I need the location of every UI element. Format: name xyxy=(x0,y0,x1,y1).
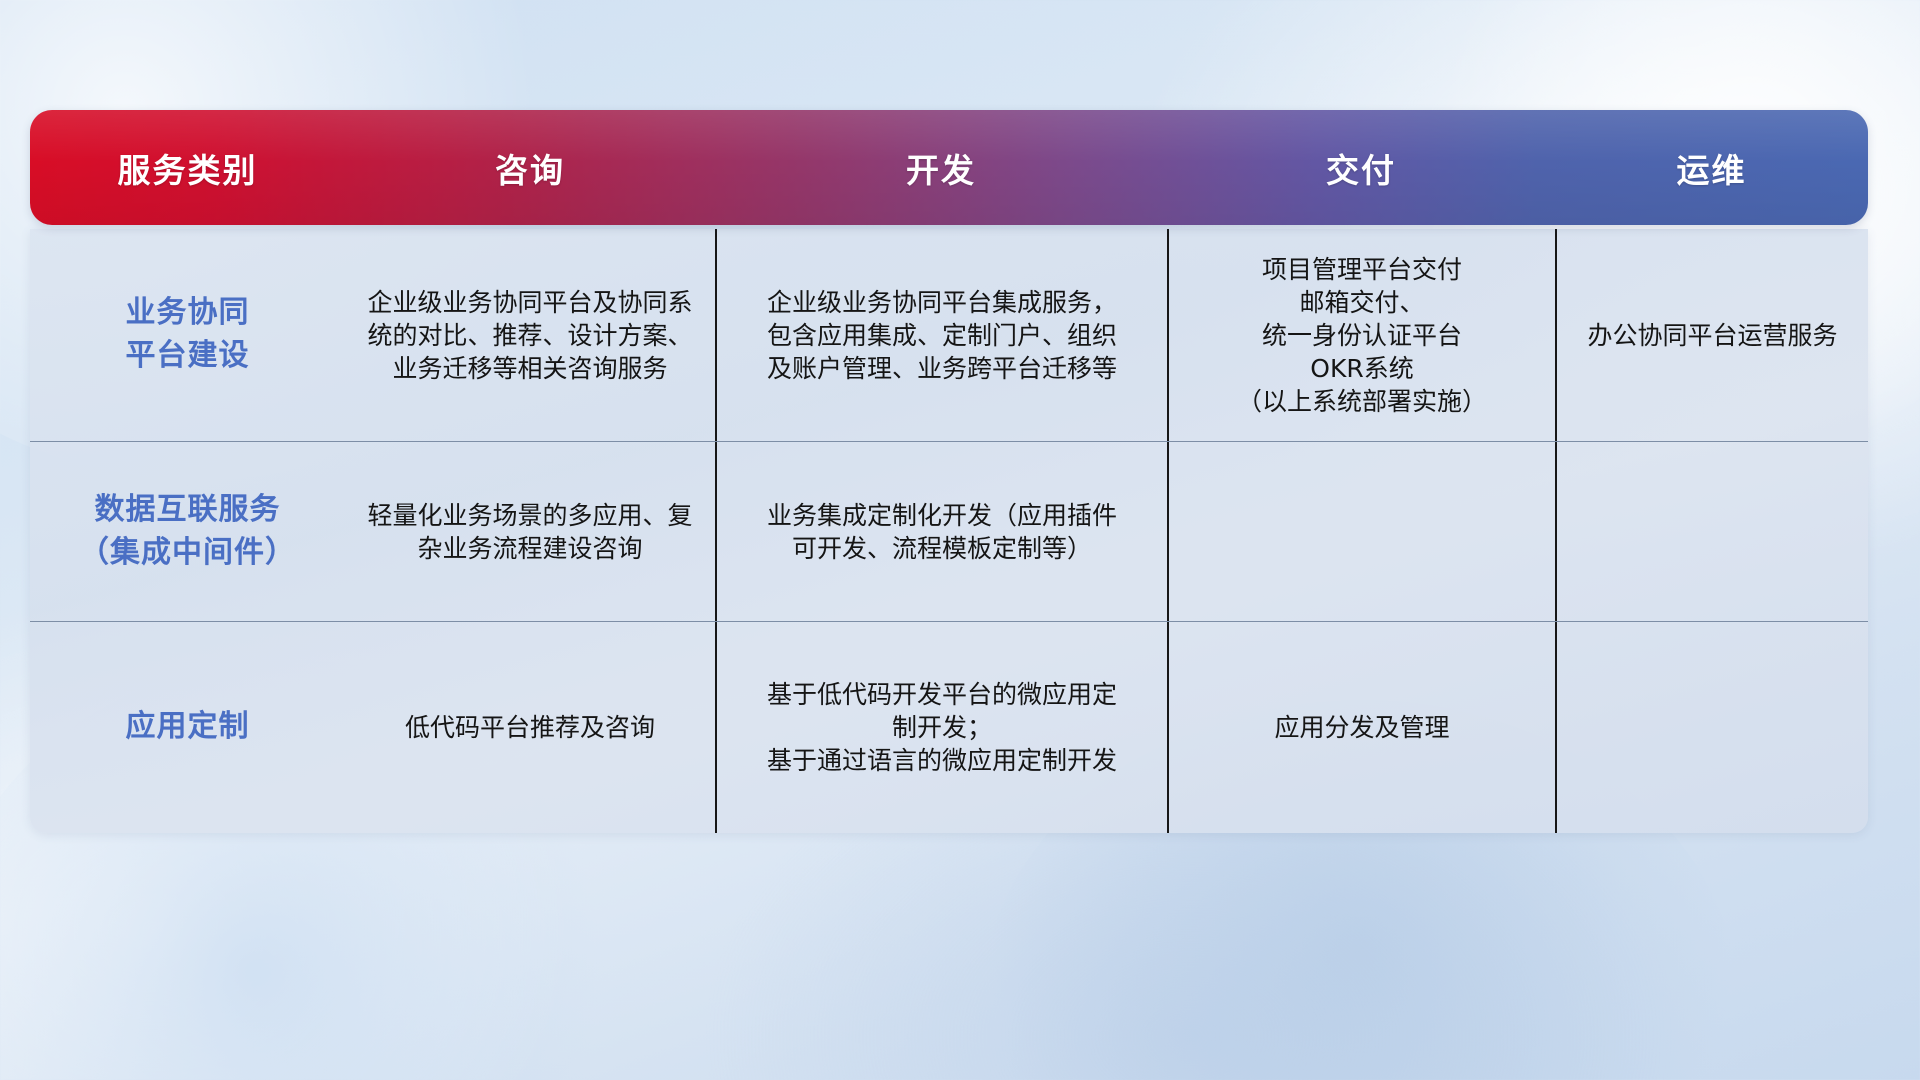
cell-delivery: 应用分发及管理 xyxy=(1167,622,1555,833)
column-header-operations: 运维 xyxy=(1555,144,1868,192)
cell-operations xyxy=(1555,622,1868,833)
cell-development: 企业级业务协同平台集成服务， 包含应用集成、定制门户、组织 及账户管理、业务跨平… xyxy=(715,229,1167,441)
table-row: 数据互联服务 （集成中间件） 轻量化业务场景的多应用、复 杂业务流程建设咨询 业… xyxy=(30,441,1868,621)
cell-consulting: 低代码平台推荐及咨询 xyxy=(345,622,715,833)
cell-delivery: 项目管理平台交付 邮箱交付、 统一身份认证平台 OKR系统 （以上系统部署实施） xyxy=(1167,229,1555,441)
column-header-development: 开发 xyxy=(715,144,1167,192)
cell-consulting: 企业级业务协同平台及协同系 统的对比、推荐、设计方案、 业务迁移等相关咨询服务 xyxy=(345,229,715,441)
column-header-delivery: 交付 xyxy=(1167,144,1555,192)
cell-category: 业务协同 平台建设 xyxy=(30,229,345,441)
cell-operations: 办公协同平台运营服务 xyxy=(1555,229,1868,441)
cell-development: 基于低代码开发平台的微应用定 制开发； 基于通过语言的微应用定制开发 xyxy=(715,622,1167,833)
table-row: 应用定制 低代码平台推荐及咨询 基于低代码开发平台的微应用定 制开发； 基于通过… xyxy=(30,621,1868,833)
cell-development: 业务集成定制化开发（应用插件 可开发、流程模板定制等） xyxy=(715,442,1167,621)
table-row: 业务协同 平台建设 企业级业务协同平台及协同系 统的对比、推荐、设计方案、 业务… xyxy=(30,229,1868,441)
column-header-service-category: 服务类别 xyxy=(30,144,345,192)
cell-consulting: 轻量化业务场景的多应用、复 杂业务流程建设咨询 xyxy=(345,442,715,621)
cell-category: 应用定制 xyxy=(30,622,345,833)
cell-delivery xyxy=(1167,442,1555,621)
cell-category: 数据互联服务 （集成中间件） xyxy=(30,442,345,621)
service-matrix-table: 服务类别 咨询 开发 交付 运维 业务协同 平台建设 企业级业务协同平台及协同系… xyxy=(30,110,1868,833)
cell-operations xyxy=(1555,442,1868,621)
table-header-row: 服务类别 咨询 开发 交付 运维 xyxy=(30,110,1868,225)
column-header-consulting: 咨询 xyxy=(345,144,715,192)
table-body: 业务协同 平台建设 企业级业务协同平台及协同系 统的对比、推荐、设计方案、 业务… xyxy=(30,229,1868,833)
